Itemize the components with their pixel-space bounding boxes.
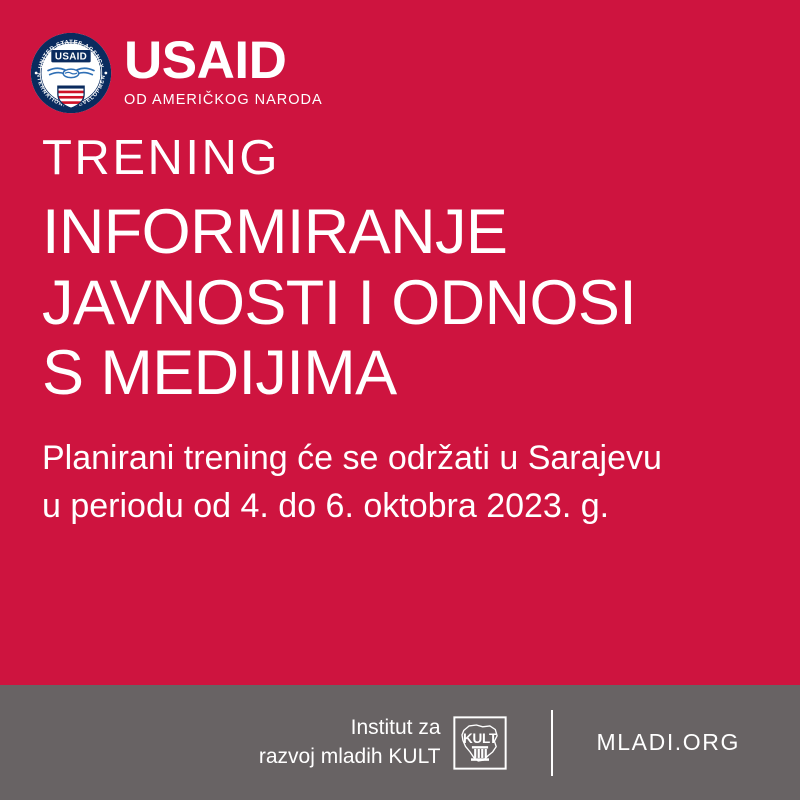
footer-bar: Institut za razvoj mladih KULT KULT bbox=[0, 685, 800, 800]
institute-name: Institut za razvoj mladih KULT bbox=[259, 714, 441, 770]
usaid-tagline: OD AMERIČKOG NARODA bbox=[124, 92, 323, 108]
subtitle-block: Planirani trening će se održati u Saraje… bbox=[42, 434, 762, 531]
subtitle-line-2: u periodu od 4. do 6. oktobra 2023. g. bbox=[42, 482, 762, 530]
headline-line-2: JAVNOSTI I ODNOSI bbox=[42, 268, 762, 339]
subtitle-line-1: Planirani trening će se održati u Saraje… bbox=[42, 434, 762, 482]
kult-logo-text: KULT bbox=[463, 731, 498, 746]
poster-canvas: UNITED STATES AGENCY INTERNATIONAL DEVEL… bbox=[0, 0, 800, 800]
footer-divider bbox=[551, 710, 553, 776]
svg-text:USAID: USAID bbox=[55, 51, 87, 62]
website-label: MLADI.ORG bbox=[597, 729, 762, 756]
kult-logo-icon: KULT bbox=[453, 716, 507, 770]
headline-line-3: S MEDIJIMA bbox=[42, 338, 762, 409]
headline-line-1: INFORMIRANJE bbox=[42, 197, 762, 268]
kult-brand-group: Institut za razvoj mladih KULT KULT bbox=[259, 714, 507, 770]
usaid-seal-icon: UNITED STATES AGENCY INTERNATIONAL DEVEL… bbox=[30, 32, 112, 114]
usaid-logo-lockup: UNITED STATES AGENCY INTERNATIONAL DEVEL… bbox=[30, 32, 323, 114]
usaid-wordmark-block: USAID OD AMERIČKOG NARODA bbox=[124, 36, 323, 109]
eyebrow-label: TRENING bbox=[42, 134, 762, 183]
page-title: INFORMIRANJE JAVNOSTI I ODNOSI S MEDIJIM… bbox=[42, 197, 762, 409]
headline-block: TRENING INFORMIRANJE JAVNOSTI I ODNOSI S… bbox=[42, 134, 762, 409]
institute-name-line-1: Institut za bbox=[259, 714, 441, 742]
institute-name-line-2: razvoj mladih KULT bbox=[259, 743, 441, 771]
usaid-wordmark: USAID bbox=[124, 36, 323, 86]
